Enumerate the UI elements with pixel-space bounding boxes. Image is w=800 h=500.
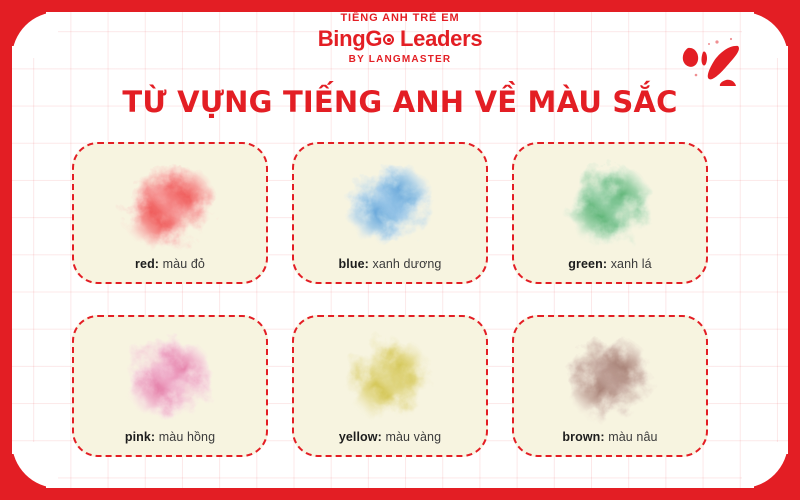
poster-canvas: TIẾNG ANH TRẺ EM BingG Leaders BY LANGMA… xyxy=(0,0,800,500)
brand-name-part1: BingG xyxy=(318,26,383,51)
watercolor-blob-brown xyxy=(546,321,674,443)
card-label-en-pink: pink: xyxy=(125,430,155,444)
watercolor-blob-green xyxy=(546,148,674,270)
card-label-en-blue: blue: xyxy=(339,257,369,271)
card-label-vi-red: màu đỏ xyxy=(163,257,205,271)
card-label-en-yellow: yellow: xyxy=(339,430,382,444)
card-label-yellow: yellow: màu vàng xyxy=(294,430,486,444)
paint-splash-icon xyxy=(676,30,748,86)
card-label-vi-pink: màu hồng xyxy=(159,430,215,444)
card-label-red: red: màu đỏ xyxy=(74,257,266,271)
card-label-vi-blue: xanh dương xyxy=(372,257,441,271)
card-label-en-red: red: xyxy=(135,257,159,271)
color-card-green[interactable]: green: xanh lá xyxy=(512,142,708,284)
card-label-green: green: xanh lá xyxy=(514,257,706,271)
card-label-vi-yellow: màu vàng xyxy=(385,430,441,444)
card-label-en-brown: brown: xyxy=(562,430,604,444)
page-title: TỪ VỰNG TIẾNG ANH VỀ MÀU SẮC xyxy=(0,85,800,119)
brand-name-part2: Leaders xyxy=(394,26,482,51)
color-card-red[interactable]: red: màu đỏ xyxy=(72,142,268,284)
color-vocabulary-grid: red: màu đỏ xyxy=(72,142,728,472)
brand-kicker: TIẾNG ANH TRẺ EM xyxy=(0,12,800,25)
watercolor-blob-blue xyxy=(326,148,454,270)
color-card-blue[interactable]: blue: xanh dương xyxy=(292,142,488,284)
bingo-o-circle-icon xyxy=(383,34,394,45)
card-label-pink: pink: màu hồng xyxy=(74,430,266,444)
card-label-vi-green: xanh lá xyxy=(611,257,652,271)
watercolor-blob-yellow xyxy=(326,321,454,443)
card-label-vi-brown: màu nâu xyxy=(608,430,657,444)
color-card-pink[interactable]: pink: màu hồng xyxy=(72,315,268,457)
card-label-brown: brown: màu nâu xyxy=(514,430,706,444)
card-label-blue: blue: xanh dương xyxy=(294,257,486,271)
card-label-en-green: green: xyxy=(568,257,607,271)
color-card-brown[interactable]: brown: màu nâu xyxy=(512,315,708,457)
color-card-yellow[interactable]: yellow: màu vàng xyxy=(292,315,488,457)
watercolor-blob-red xyxy=(106,148,234,270)
watercolor-blob-pink xyxy=(106,321,234,443)
